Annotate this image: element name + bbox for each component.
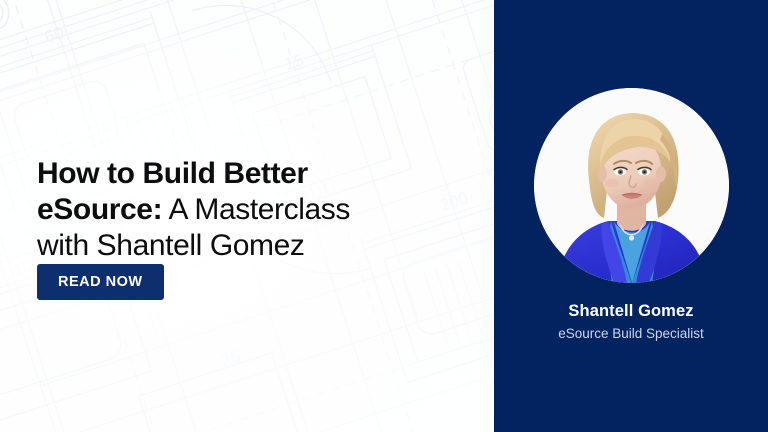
headline-line-2-regular: A Masterclass <box>162 193 350 226</box>
promo-banner: 60 15 100 200 195 31 28 115 25 12 20 70 … <box>0 0 768 432</box>
headline-line-2-bold: eSource: <box>37 193 162 226</box>
left-content-pane: 60 15 100 200 195 31 28 115 25 12 20 70 … <box>0 0 494 432</box>
svg-text:25: 25 <box>219 346 243 370</box>
speaker-avatar <box>534 88 729 283</box>
speaker-headshot-image <box>534 88 729 283</box>
speaker-role: eSource Build Specialist <box>494 326 768 341</box>
headline: How to Build BettereSource: A Masterclas… <box>37 156 467 264</box>
read-now-button[interactable]: READ NOW <box>37 264 164 300</box>
speaker-pane: Shantell Gomez eSource Build Specialist <box>494 0 768 432</box>
headline-line-3: with Shantell Gomez <box>37 229 305 262</box>
speaker-name: Shantell Gomez <box>494 302 768 321</box>
svg-text:15: 15 <box>282 50 306 74</box>
svg-text:60: 60 <box>42 23 66 47</box>
headline-line-1: How to Build Better <box>37 157 308 190</box>
read-now-button-label: READ NOW <box>58 274 143 290</box>
